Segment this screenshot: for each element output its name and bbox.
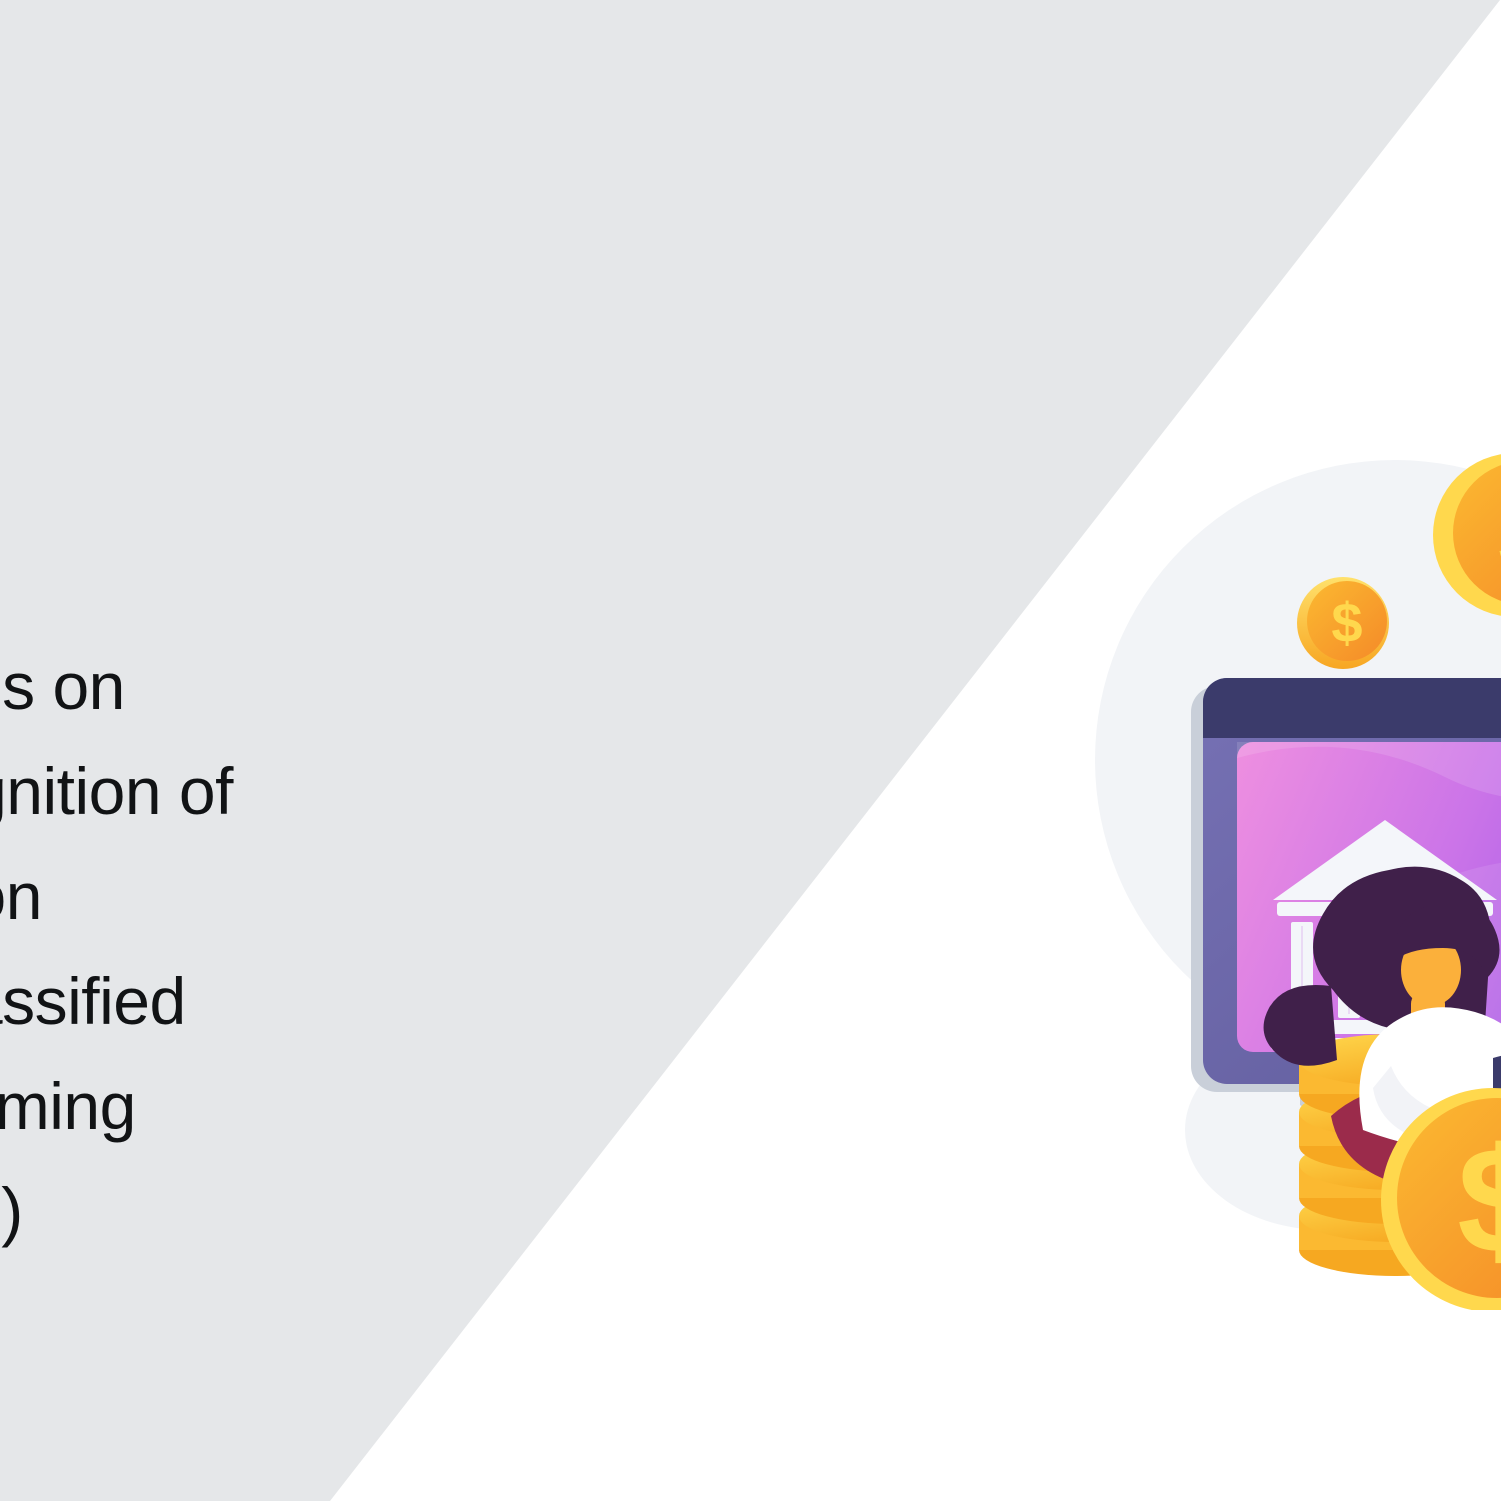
svg-text:$: $ [1457, 1116, 1501, 1284]
headline-line-2: Recognition of [0, 739, 578, 844]
slide-number: 09 [0, 536, 578, 610]
slide-canvas: 09 Studies on Recognition of Cost on gs … [0, 0, 1501, 1501]
title-block: 09 Studies on Recognition of Cost on gs … [0, 536, 578, 1264]
headline-line-4: gs Classified [0, 949, 578, 1054]
headline-line-1: Studies on [0, 634, 578, 739]
headline-line-3: Cost on [0, 844, 578, 949]
svg-text:$: $ [1331, 591, 1362, 654]
headline-line-6: (NPAs) [0, 1159, 578, 1264]
headline-line-5: Performing [0, 1054, 578, 1159]
page-title: Studies on Recognition of Cost on gs Cla… [0, 634, 578, 1264]
monitor-topbar [1203, 678, 1501, 738]
illustration-svg: $ $ [1095, 430, 1501, 1310]
dollar-coin-small: $ [1297, 577, 1389, 669]
online-banking-illustration: $ $ [1095, 430, 1501, 1310]
